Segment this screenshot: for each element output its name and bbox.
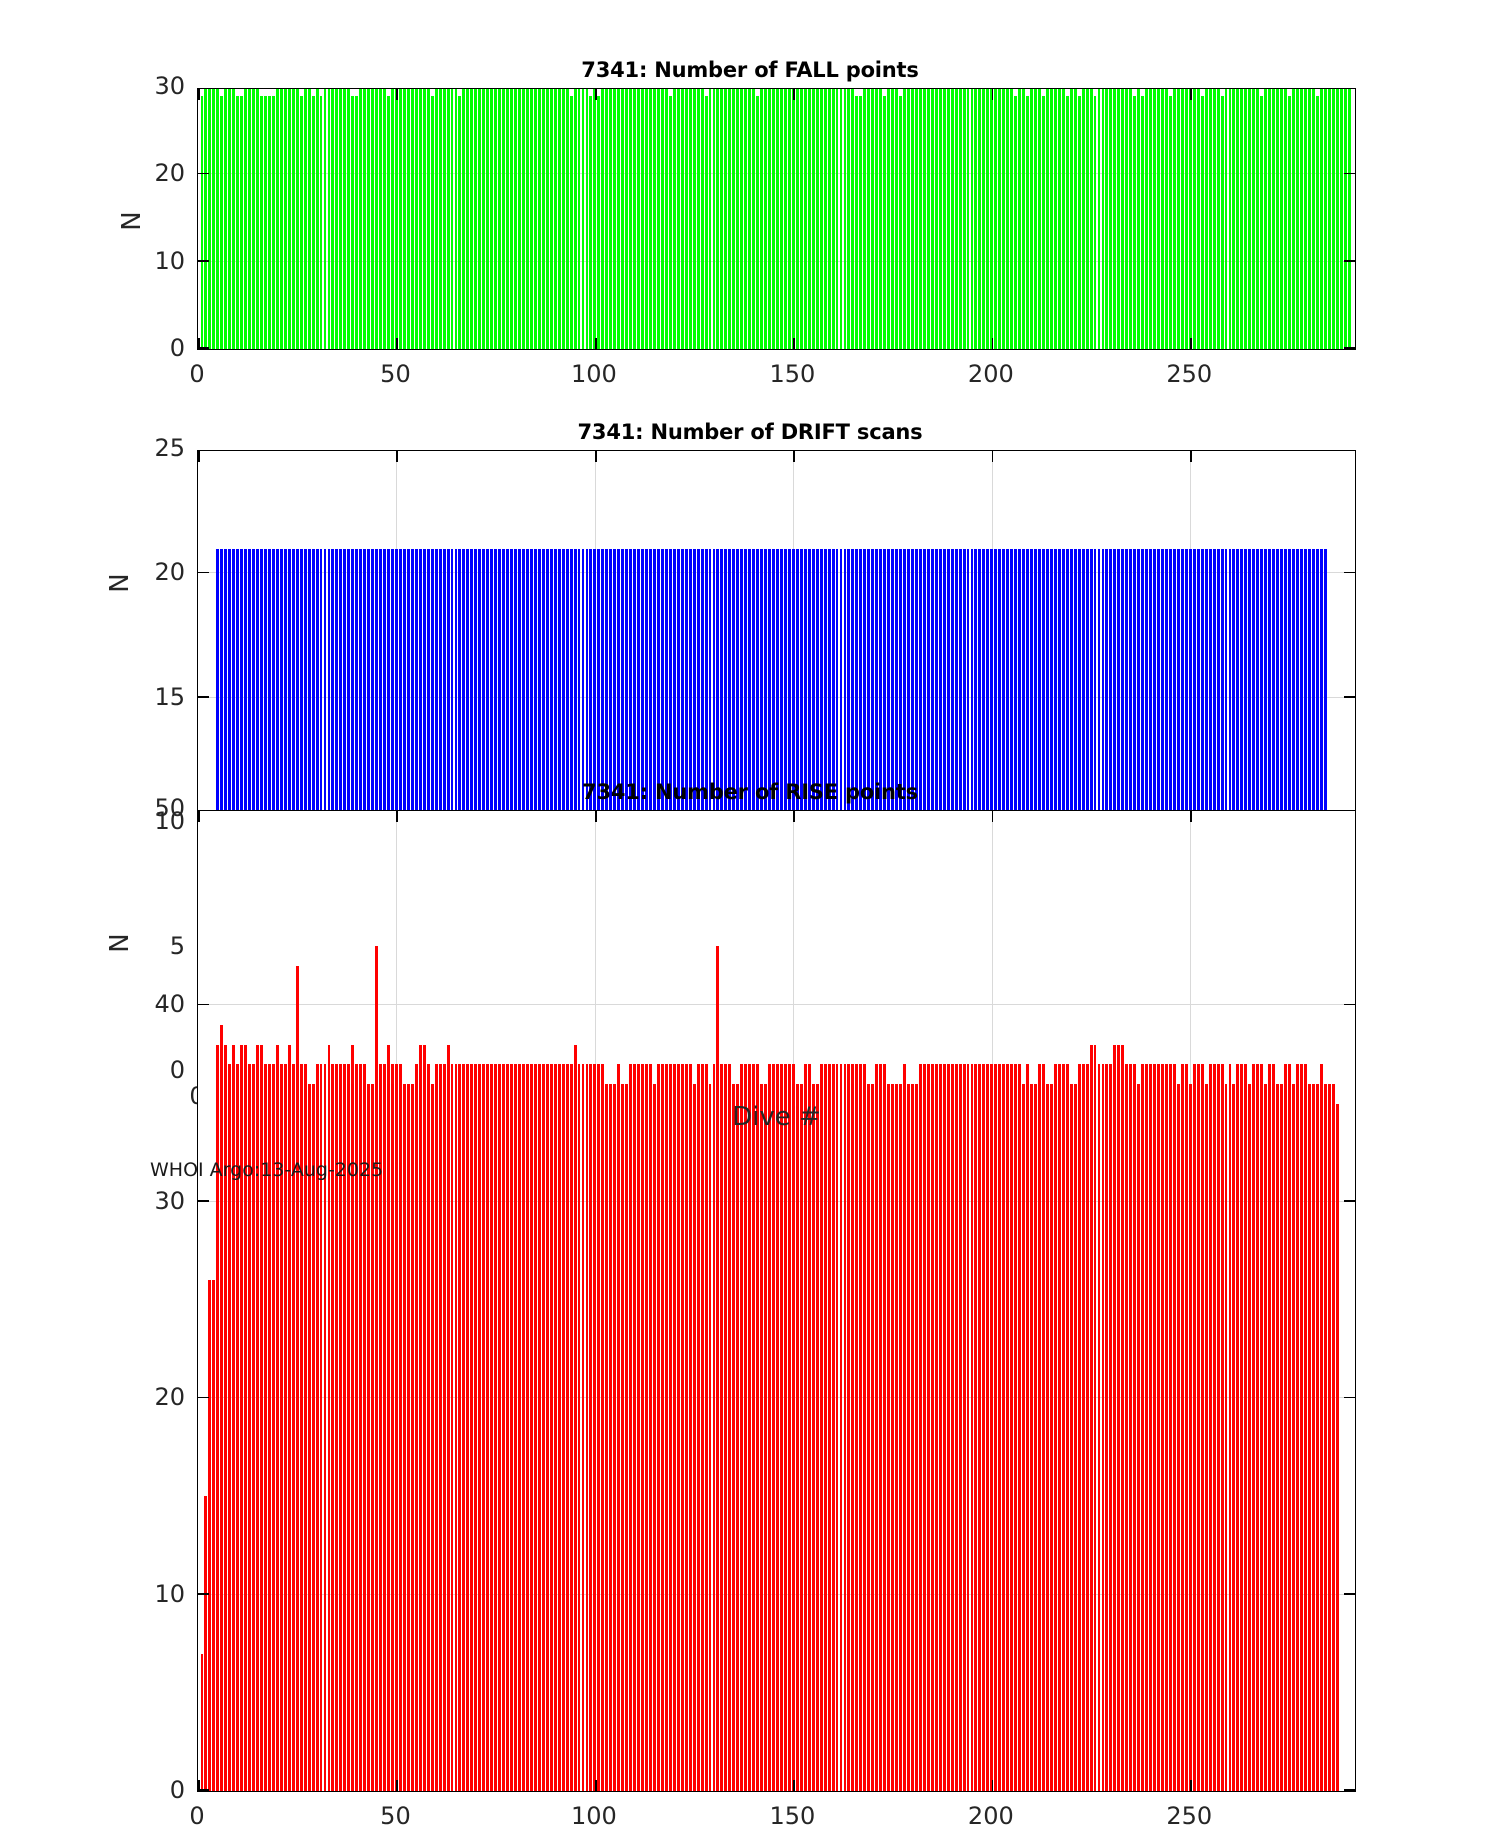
x-tick-mark bbox=[1190, 89, 1192, 100]
bar bbox=[1165, 88, 1168, 349]
x-tick-mark bbox=[595, 451, 597, 462]
bar bbox=[720, 88, 723, 349]
bar bbox=[673, 88, 676, 349]
bar bbox=[1336, 1104, 1339, 1791]
bar bbox=[840, 88, 843, 349]
bar bbox=[792, 1064, 795, 1791]
bar bbox=[645, 88, 648, 349]
bar bbox=[339, 88, 342, 349]
bar bbox=[863, 1064, 866, 1791]
bar bbox=[1189, 88, 1192, 349]
y-tick-mark bbox=[1344, 1200, 1355, 1202]
bar bbox=[1133, 96, 1136, 349]
y-tick-label: 20 bbox=[113, 1383, 185, 1411]
bar bbox=[494, 88, 497, 349]
x-tick-mark bbox=[992, 338, 994, 349]
bar bbox=[998, 88, 1001, 349]
x-tick-label: 150 bbox=[747, 1802, 837, 1830]
bar bbox=[558, 88, 561, 349]
bar bbox=[740, 88, 743, 349]
bar bbox=[1109, 88, 1112, 349]
x-tick-mark bbox=[396, 89, 398, 100]
bar bbox=[1312, 88, 1315, 349]
bar bbox=[522, 88, 525, 349]
y-tick-label: 40 bbox=[113, 990, 185, 1018]
bar bbox=[466, 88, 469, 349]
bar bbox=[1149, 88, 1152, 349]
bar bbox=[478, 88, 481, 349]
bar bbox=[1197, 1064, 1200, 1791]
bar bbox=[1209, 1064, 1212, 1791]
bar bbox=[808, 88, 811, 349]
bar bbox=[673, 1064, 676, 1791]
bar bbox=[947, 88, 950, 349]
plot-area-rise bbox=[197, 810, 1356, 1792]
bar bbox=[570, 1064, 573, 1791]
x-tick-mark bbox=[793, 451, 795, 462]
bar bbox=[891, 1084, 894, 1791]
y-tick-mark bbox=[1344, 1593, 1355, 1595]
bar bbox=[1066, 1064, 1069, 1791]
bar bbox=[1229, 1064, 1232, 1791]
bar bbox=[709, 1084, 712, 1791]
bar bbox=[816, 1084, 819, 1791]
bar bbox=[371, 88, 374, 349]
bar bbox=[982, 88, 985, 349]
x-tick-mark bbox=[198, 338, 200, 349]
footer-credit: WHOI Argo:13-Aug-2025 bbox=[150, 1159, 383, 1181]
bar bbox=[732, 88, 735, 349]
bar bbox=[1248, 1084, 1251, 1791]
bar bbox=[1225, 1084, 1228, 1791]
bar bbox=[1197, 88, 1200, 349]
bar bbox=[435, 1064, 438, 1791]
bar bbox=[1038, 1064, 1041, 1791]
bar bbox=[919, 88, 922, 349]
bar bbox=[1141, 96, 1144, 349]
bar bbox=[919, 1064, 922, 1791]
bar bbox=[201, 1654, 204, 1791]
y-tick-label: 15 bbox=[113, 683, 185, 711]
bar bbox=[994, 1064, 997, 1791]
bar bbox=[617, 88, 620, 349]
x-tick-mark bbox=[198, 89, 200, 100]
y-tick-mark bbox=[198, 1200, 209, 1202]
panel-drift-title: 7341: Number of DRIFT scans bbox=[0, 420, 1500, 444]
bar bbox=[955, 88, 958, 349]
bar bbox=[328, 1045, 331, 1791]
bar bbox=[1018, 88, 1021, 349]
bar bbox=[879, 1064, 882, 1791]
bar bbox=[1221, 1064, 1224, 1791]
x-tick-mark bbox=[992, 811, 994, 822]
bar bbox=[990, 1064, 993, 1791]
bar bbox=[1264, 1084, 1267, 1791]
bar bbox=[764, 1084, 767, 1791]
bar bbox=[296, 966, 299, 1791]
bar bbox=[1098, 88, 1101, 349]
bar bbox=[1332, 88, 1335, 349]
y-axis-label-drift: N bbox=[105, 563, 135, 603]
bar bbox=[1006, 1064, 1009, 1791]
x-tick-mark bbox=[1190, 338, 1192, 349]
bar bbox=[1046, 1084, 1049, 1791]
bar bbox=[800, 1084, 803, 1791]
bar bbox=[907, 1084, 910, 1791]
bar bbox=[768, 88, 771, 349]
plot-area-fall bbox=[197, 88, 1356, 350]
bar bbox=[244, 1045, 247, 1791]
y-tick-mark bbox=[198, 260, 209, 262]
bar bbox=[844, 88, 847, 349]
bar bbox=[1133, 1064, 1136, 1791]
bar bbox=[240, 1045, 243, 1791]
bar bbox=[439, 88, 442, 349]
bar bbox=[724, 88, 727, 349]
bar bbox=[693, 1084, 696, 1791]
x-tick-mark bbox=[595, 338, 597, 349]
bar bbox=[232, 88, 235, 349]
bar bbox=[915, 1084, 918, 1791]
y-tick-mark bbox=[1344, 1004, 1355, 1006]
x-tick-mark bbox=[198, 451, 200, 462]
bar bbox=[280, 88, 283, 349]
bar bbox=[625, 1084, 628, 1791]
bar bbox=[669, 96, 672, 349]
bar bbox=[713, 1064, 716, 1791]
bar bbox=[728, 1064, 731, 1791]
bar bbox=[542, 88, 545, 349]
bar bbox=[1217, 88, 1220, 349]
bar bbox=[792, 88, 795, 349]
bar bbox=[951, 1064, 954, 1791]
bar bbox=[514, 88, 517, 349]
x-tick-mark bbox=[992, 451, 994, 462]
bar bbox=[482, 1064, 485, 1791]
bar bbox=[998, 1064, 1001, 1791]
bar bbox=[506, 1064, 509, 1791]
bar bbox=[1022, 88, 1025, 349]
bar bbox=[871, 1084, 874, 1791]
bar bbox=[1236, 88, 1239, 349]
bar bbox=[1086, 88, 1089, 349]
bar bbox=[939, 1064, 942, 1791]
bar bbox=[526, 1064, 529, 1791]
bar bbox=[1050, 88, 1053, 349]
bar bbox=[1236, 1064, 1239, 1791]
bar bbox=[1181, 88, 1184, 349]
bar bbox=[697, 1064, 700, 1791]
bar bbox=[788, 88, 791, 349]
bar bbox=[343, 88, 346, 349]
bar bbox=[935, 88, 938, 349]
y-tick-mark bbox=[198, 572, 209, 574]
bar bbox=[685, 1064, 688, 1791]
bar bbox=[697, 88, 700, 349]
bar bbox=[455, 88, 458, 349]
bar bbox=[772, 88, 775, 349]
bar bbox=[820, 1064, 823, 1791]
bar bbox=[1300, 88, 1303, 349]
bar bbox=[716, 946, 719, 1791]
bar bbox=[447, 88, 450, 349]
bar bbox=[939, 88, 942, 349]
bar bbox=[1026, 96, 1029, 349]
bar bbox=[212, 1280, 215, 1791]
bar bbox=[1058, 1064, 1061, 1791]
bar bbox=[367, 1084, 370, 1791]
bar bbox=[685, 88, 688, 349]
x-tick-mark bbox=[396, 811, 398, 822]
bar bbox=[971, 88, 974, 349]
bar bbox=[859, 1064, 862, 1791]
bar bbox=[1006, 88, 1009, 349]
bar bbox=[677, 1064, 680, 1791]
bar bbox=[1232, 88, 1235, 349]
panel-rise: 7341: Number of RISE points 010203040500… bbox=[0, 720, 1500, 1140]
x-tick-mark bbox=[1190, 811, 1192, 822]
bar bbox=[784, 1064, 787, 1791]
y-tick-mark bbox=[198, 1789, 209, 1791]
bar bbox=[1117, 88, 1120, 349]
bar bbox=[1074, 1084, 1077, 1791]
bars-rise bbox=[198, 811, 1355, 1791]
bar bbox=[455, 1064, 458, 1791]
bar bbox=[796, 1084, 799, 1791]
bar bbox=[986, 1064, 989, 1791]
bar bbox=[1185, 1064, 1188, 1791]
bar bbox=[550, 88, 553, 349]
bar bbox=[867, 88, 870, 349]
bar bbox=[689, 88, 692, 349]
bar bbox=[470, 1064, 473, 1791]
bar bbox=[534, 1064, 537, 1791]
x-tick-mark bbox=[595, 1780, 597, 1791]
bar bbox=[1002, 88, 1005, 349]
bar bbox=[597, 1064, 600, 1791]
bar bbox=[724, 1064, 727, 1791]
bar bbox=[812, 1084, 815, 1791]
bar bbox=[1296, 1064, 1299, 1791]
bar bbox=[403, 88, 406, 349]
bar bbox=[705, 1064, 708, 1791]
bar bbox=[1157, 88, 1160, 349]
bar bbox=[260, 96, 263, 349]
bar bbox=[399, 1064, 402, 1791]
bar bbox=[208, 88, 211, 349]
bar bbox=[788, 1064, 791, 1791]
y-tick-label: 10 bbox=[113, 1580, 185, 1608]
bar bbox=[1193, 88, 1196, 349]
y-tick-label: 30 bbox=[113, 1187, 185, 1215]
bar bbox=[1117, 1045, 1120, 1791]
bar bbox=[665, 88, 668, 349]
bar bbox=[597, 96, 600, 349]
bar bbox=[1137, 1084, 1140, 1791]
bar bbox=[224, 88, 227, 349]
bar bbox=[907, 88, 910, 349]
bar bbox=[224, 1045, 227, 1791]
bar bbox=[653, 1084, 656, 1791]
x-tick-mark bbox=[1190, 451, 1192, 462]
bar bbox=[1201, 96, 1204, 349]
y-tick-mark bbox=[198, 1397, 209, 1399]
bar bbox=[780, 1064, 783, 1791]
bar bbox=[963, 88, 966, 349]
bar bbox=[300, 96, 303, 349]
bar bbox=[391, 88, 394, 349]
bar bbox=[1173, 1064, 1176, 1791]
bar bbox=[816, 88, 819, 349]
bar bbox=[1308, 88, 1311, 349]
x-tick-mark bbox=[595, 811, 597, 822]
bar bbox=[967, 88, 970, 349]
bar bbox=[212, 88, 215, 349]
x-tick-mark bbox=[198, 811, 200, 822]
bar bbox=[756, 96, 759, 349]
bar bbox=[617, 1064, 620, 1791]
x-tick-mark bbox=[396, 451, 398, 462]
bar bbox=[506, 88, 509, 349]
bar bbox=[1272, 88, 1275, 349]
bar bbox=[776, 88, 779, 349]
bar bbox=[1070, 88, 1073, 349]
bar bbox=[665, 1064, 668, 1791]
bar bbox=[728, 88, 731, 349]
bar bbox=[240, 96, 243, 349]
bar bbox=[1348, 88, 1351, 349]
bar bbox=[768, 1064, 771, 1791]
bar bbox=[1030, 88, 1033, 349]
bar bbox=[927, 1064, 930, 1791]
bar bbox=[836, 88, 839, 349]
x-tick-label: 100 bbox=[549, 1802, 639, 1830]
bar bbox=[605, 1084, 608, 1791]
bar bbox=[1229, 88, 1232, 349]
bar bbox=[1113, 1045, 1116, 1791]
bar bbox=[423, 1045, 426, 1791]
bar bbox=[335, 88, 338, 349]
bar bbox=[859, 96, 862, 349]
bar bbox=[443, 88, 446, 349]
bar bbox=[756, 1064, 759, 1791]
bar bbox=[1205, 88, 1208, 349]
bar bbox=[621, 1084, 624, 1791]
y-tick-label: 0 bbox=[113, 1776, 185, 1804]
bar bbox=[1022, 1084, 1025, 1791]
bar bbox=[832, 1064, 835, 1791]
bar bbox=[244, 88, 247, 349]
bar bbox=[776, 1064, 779, 1791]
bar bbox=[470, 88, 473, 349]
bar bbox=[1042, 96, 1045, 349]
bar bbox=[978, 88, 981, 349]
bar bbox=[1288, 1064, 1291, 1791]
bar bbox=[887, 88, 890, 349]
bar bbox=[1014, 1064, 1017, 1791]
bar bbox=[1002, 1064, 1005, 1791]
bar bbox=[824, 88, 827, 349]
bar bbox=[931, 88, 934, 349]
y-tick-mark bbox=[1344, 1789, 1355, 1791]
bar bbox=[423, 88, 426, 349]
bar bbox=[1145, 1064, 1148, 1791]
bar bbox=[570, 96, 573, 349]
bar bbox=[744, 88, 747, 349]
bar bbox=[1058, 88, 1061, 349]
bar bbox=[641, 88, 644, 349]
bar bbox=[407, 88, 410, 349]
bar bbox=[1026, 1064, 1029, 1791]
bar bbox=[867, 1084, 870, 1791]
y-tick-label: 0 bbox=[113, 334, 185, 362]
bar bbox=[832, 88, 835, 349]
bar bbox=[883, 96, 886, 349]
bar bbox=[1189, 1084, 1192, 1791]
bar bbox=[312, 1084, 315, 1791]
bar bbox=[375, 946, 378, 1791]
bar bbox=[355, 96, 358, 349]
bar bbox=[863, 88, 866, 349]
bar bbox=[566, 88, 569, 349]
bar bbox=[387, 96, 390, 349]
bar bbox=[740, 1064, 743, 1791]
bar bbox=[732, 1084, 735, 1791]
bar bbox=[903, 88, 906, 349]
bar bbox=[1153, 88, 1156, 349]
bar bbox=[1153, 1064, 1156, 1791]
bar bbox=[1038, 88, 1041, 349]
bar bbox=[1054, 1064, 1057, 1791]
bar bbox=[586, 88, 589, 349]
bar bbox=[645, 1064, 648, 1791]
bar bbox=[1109, 1064, 1112, 1791]
bar bbox=[847, 1064, 850, 1791]
bar bbox=[1292, 1084, 1295, 1791]
bar bbox=[351, 96, 354, 349]
bar bbox=[220, 1025, 223, 1791]
bar bbox=[705, 96, 708, 349]
bar bbox=[399, 88, 402, 349]
bar bbox=[1177, 1084, 1180, 1791]
bar bbox=[1336, 88, 1339, 349]
bar bbox=[308, 88, 311, 349]
bar bbox=[760, 1084, 763, 1791]
bar bbox=[855, 1064, 858, 1791]
bar bbox=[911, 88, 914, 349]
bar bbox=[1090, 88, 1093, 349]
bar bbox=[296, 88, 299, 349]
bar bbox=[1105, 88, 1108, 349]
bar bbox=[550, 1064, 553, 1791]
bar bbox=[1014, 96, 1017, 349]
bar bbox=[582, 1064, 585, 1791]
bar bbox=[216, 88, 219, 349]
bar bbox=[1244, 88, 1247, 349]
bar bbox=[1078, 96, 1081, 349]
bar bbox=[391, 1064, 394, 1791]
bar bbox=[1086, 1064, 1089, 1791]
bar bbox=[637, 1064, 640, 1791]
bar bbox=[383, 1064, 386, 1791]
bar bbox=[435, 88, 438, 349]
bar bbox=[474, 1064, 477, 1791]
y-tick-mark bbox=[198, 173, 209, 175]
bar bbox=[1240, 1064, 1243, 1791]
bar bbox=[1248, 88, 1251, 349]
bar bbox=[935, 1064, 938, 1791]
bar bbox=[419, 1045, 422, 1791]
